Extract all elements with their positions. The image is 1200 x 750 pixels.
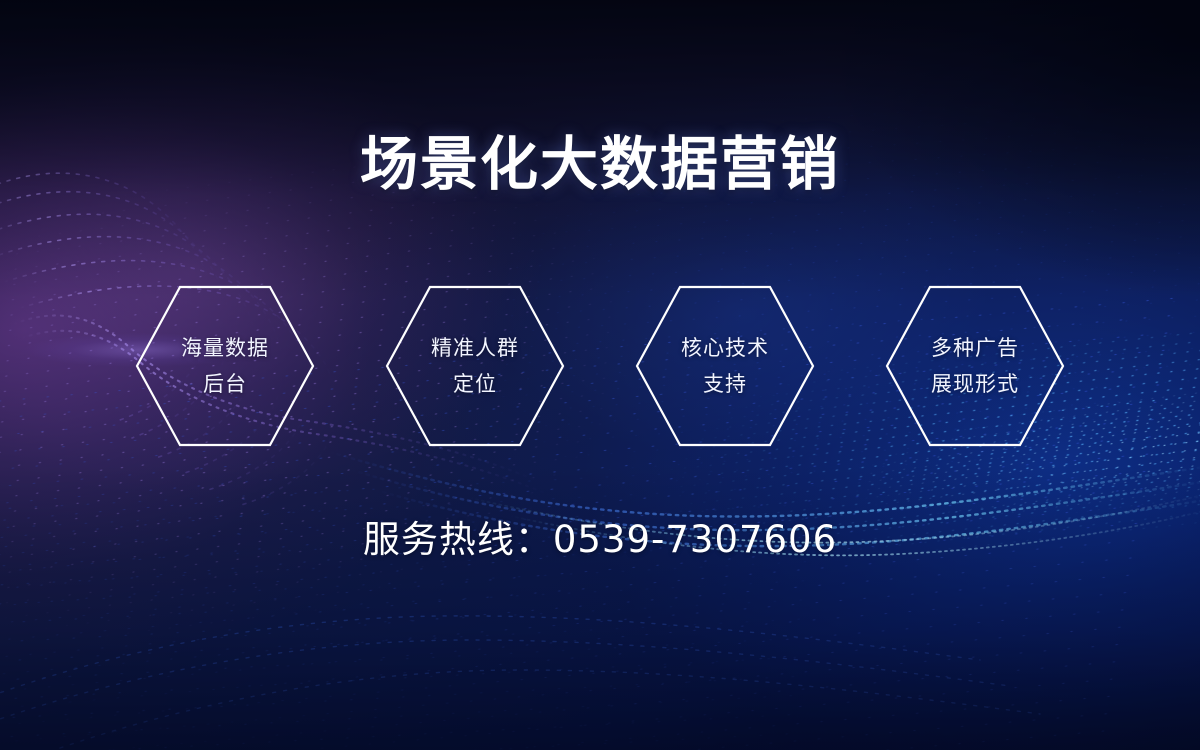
hex-core-technology[interactable]: 核心技术 支持 — [635, 284, 815, 448]
hex-precise-audience[interactable]: 精准人群 定位 — [385, 284, 565, 448]
feature-hexagon-row: 海量数据 后台 精准人群 定位 核心技术 支持 多种广告 展现形式 — [0, 281, 1200, 451]
hex-label-precise-audience: 精准人群 定位 — [431, 330, 519, 402]
hex-massive-data[interactable]: 海量数据 后台 — [135, 284, 315, 448]
page-title: 场景化大数据营销 — [0, 128, 1200, 200]
banner-content: 场景化大数据营销 海量数据 后台 精准人群 定位 核心技术 支持 — [0, 0, 1200, 750]
service-hotline[interactable]: 服务热线：0539-7307606 — [0, 516, 1200, 564]
hex-label-core-technology: 核心技术 支持 — [681, 330, 769, 402]
hex-label-massive-data: 海量数据 后台 — [181, 330, 269, 402]
hex-label-ad-formats: 多种广告 展现形式 — [931, 330, 1019, 402]
marketing-banner: 场景化大数据营销 海量数据 后台 精准人群 定位 核心技术 支持 — [0, 0, 1200, 750]
hex-ad-formats[interactable]: 多种广告 展现形式 — [885, 284, 1065, 448]
